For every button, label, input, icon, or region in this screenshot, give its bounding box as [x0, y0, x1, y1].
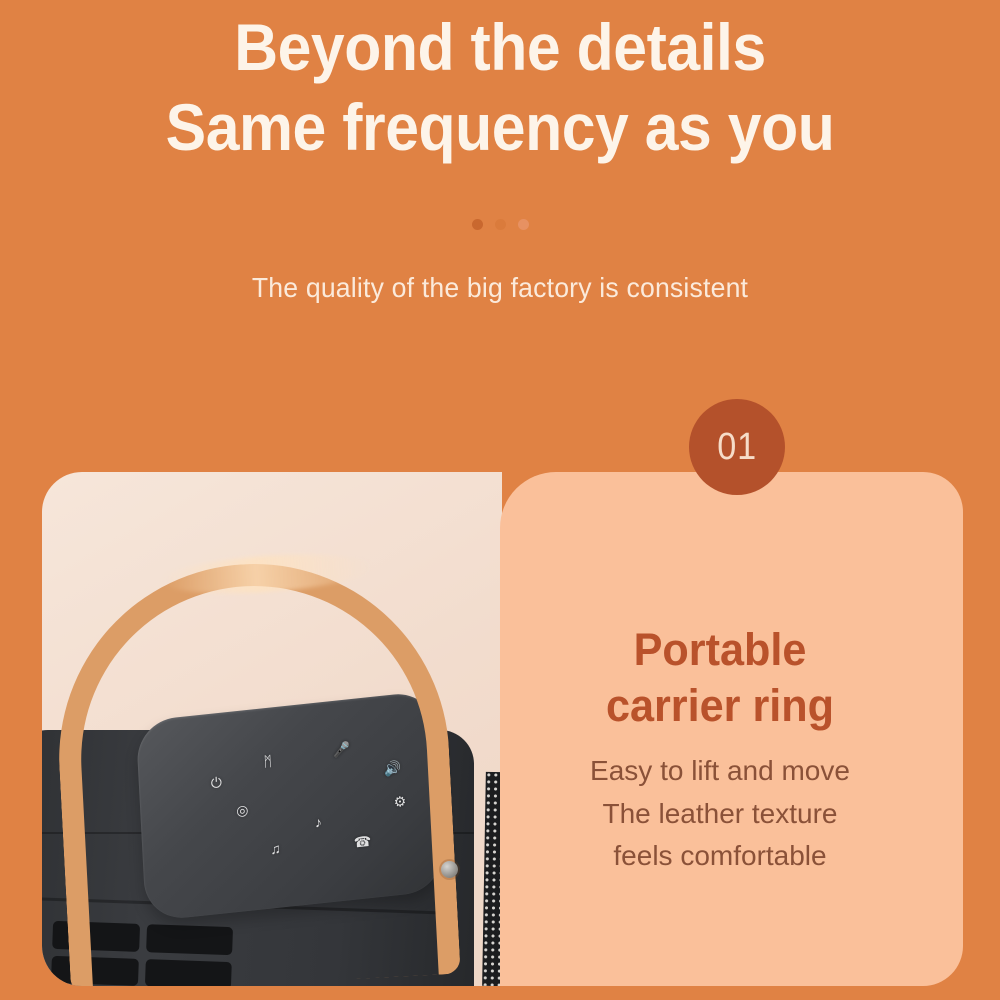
feature-title: Portable carrier ring [528, 622, 912, 734]
headline-line-1: Beyond the details [40, 14, 960, 80]
carousel-dot-1[interactable] [472, 219, 483, 230]
feature-title-line-1: Portable [528, 622, 912, 678]
feature-number-badge: 01 [689, 399, 785, 495]
product-feature-page: { "colors": { "background_orange": "#E08… [0, 0, 1000, 1000]
hero-heading-block: Beyond the details Same frequency as you [0, 14, 1000, 160]
carousel-dot-3[interactable] [518, 219, 529, 230]
hero-subtitle: The quality of the big factory is consis… [25, 272, 975, 304]
carousel-dot-2[interactable] [495, 219, 506, 230]
badge-number-label: 01 [717, 426, 757, 469]
feature-description-line-3: feels comfortable [520, 835, 920, 878]
headline-line-2: Same frequency as you [40, 94, 960, 160]
carousel-dots[interactable] [0, 219, 1000, 230]
leather-carry-handle [49, 554, 460, 986]
product-photo: ⏻ ᛗ 🎤 🔊 ⚙ ◎ ♪ ♫ ☎ [42, 472, 502, 986]
feature-description-line-2: The leather texture [520, 793, 920, 836]
feature-title-line-2: carrier ring [528, 678, 912, 734]
feature-description-line-1: Easy to lift and move [520, 750, 920, 793]
feature-description: Easy to lift and move The leather textur… [520, 750, 920, 878]
handle-rivet-icon [441, 861, 458, 878]
